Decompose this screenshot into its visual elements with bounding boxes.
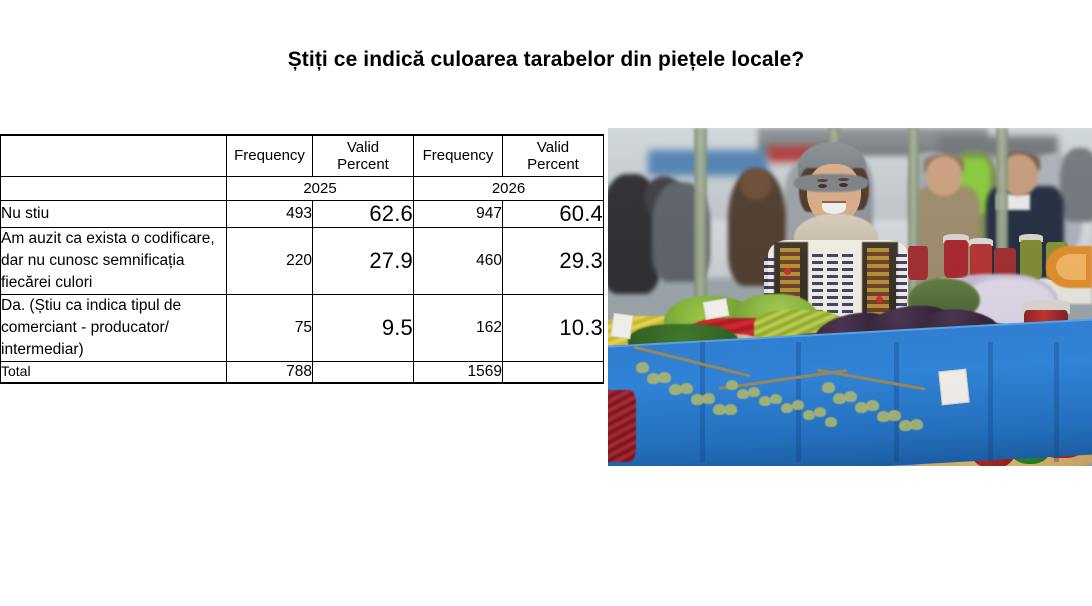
header-valid-percent-2025-line1: Valid bbox=[313, 139, 413, 156]
row-valid-percent-2026: 29.3 bbox=[503, 228, 604, 295]
photo-vendor-eyebrow bbox=[817, 179, 828, 182]
photo-vest-red-dot bbox=[784, 268, 791, 275]
row-valid-percent-2025: 62.6 bbox=[313, 201, 414, 228]
row-frequency-2025: 220 bbox=[227, 228, 313, 295]
year-group-2026: 2026 bbox=[414, 177, 604, 201]
year-group-2025: 2025 bbox=[227, 177, 414, 201]
table-row: Am auzit ca exista o codificare, dar nu … bbox=[1, 228, 604, 295]
total-frequency-2025: 788 bbox=[227, 362, 313, 383]
photo-preserve-jar bbox=[908, 246, 928, 280]
photo-crate-rib bbox=[1054, 342, 1059, 462]
photo-pickle-jar bbox=[1020, 240, 1042, 280]
photo-hop-leaf bbox=[792, 400, 804, 410]
photo-preserve-jar bbox=[944, 240, 968, 278]
row-frequency-2026: 947 bbox=[414, 201, 503, 228]
row-label-nu-stiu: Nu stiu bbox=[1, 201, 227, 228]
header-frequency-2025: Frequency bbox=[227, 135, 313, 177]
row-valid-percent-2026: 60.4 bbox=[503, 201, 604, 228]
photo-crate-rib bbox=[894, 342, 899, 462]
photo-vendor-hat-brim bbox=[794, 174, 868, 192]
photo-hop-leaf bbox=[866, 400, 879, 411]
photo-man-tan-head bbox=[926, 156, 962, 196]
page-title: Știți ce indică culoarea tarabelor din p… bbox=[0, 48, 1092, 72]
row-label-am-auzit: Am auzit ca exista o codificare, dar nu … bbox=[1, 228, 227, 295]
table-year-row: 2025 2026 bbox=[1, 177, 604, 201]
total-label: Total bbox=[1, 362, 227, 383]
photo-shopper bbox=[1060, 148, 1092, 222]
table-header-row: Frequency Valid Percent Frequency Valid … bbox=[1, 135, 604, 177]
row-label-da: Da. (Știu ca indica tipul de comerciant … bbox=[1, 295, 227, 362]
row-frequency-2025: 75 bbox=[227, 295, 313, 362]
photo-hop-leaf bbox=[636, 362, 649, 373]
photo-hop-leaf bbox=[825, 417, 837, 427]
photo-vendor-smile bbox=[822, 201, 846, 214]
header-valid-percent-2025-line2: Percent bbox=[313, 156, 413, 173]
photo-hop-leaf bbox=[724, 404, 737, 415]
photo-crate-rib bbox=[988, 342, 993, 462]
total-valid-percent-2025 bbox=[313, 362, 414, 383]
table-total-row: Total 788 1569 bbox=[1, 362, 604, 383]
photo-mesh-bag bbox=[608, 390, 636, 462]
photo-hop-leaf bbox=[888, 410, 901, 421]
photo-price-tag bbox=[938, 369, 969, 406]
table-row: Nu stiu 493 62.6 947 60.4 bbox=[1, 201, 604, 228]
photo-price-tag bbox=[610, 313, 633, 340]
photo-preserve-jar bbox=[970, 244, 992, 278]
header-valid-percent-2026-line1: Valid bbox=[503, 139, 603, 156]
photo-vendor-eyebrow bbox=[838, 178, 849, 181]
header-valid-percent-2026: Valid Percent bbox=[503, 135, 604, 177]
photo-hop-leaf bbox=[726, 380, 738, 390]
photo-tent-pole bbox=[996, 128, 1008, 258]
photo-hop-leaf bbox=[910, 419, 923, 430]
photo-hop-leaf bbox=[748, 387, 760, 397]
total-frequency-2026: 1569 bbox=[414, 362, 503, 383]
photo-hop-leaf bbox=[702, 393, 715, 404]
photo-vest-red-dot bbox=[876, 296, 883, 303]
total-valid-percent-2026 bbox=[503, 362, 604, 383]
photo-hop-leaf bbox=[822, 382, 835, 393]
photo-hop-leaf bbox=[680, 383, 693, 394]
table-row: Da. (Știu ca indica tipul de comerciant … bbox=[1, 295, 604, 362]
header-valid-percent-2026-line2: Percent bbox=[503, 156, 603, 173]
survey-table-container: Frequency Valid Percent Frequency Valid … bbox=[0, 134, 603, 384]
header-valid-percent-2025: Valid Percent bbox=[313, 135, 414, 177]
photo-tent-pole bbox=[694, 128, 707, 298]
row-valid-percent-2026: 10.3 bbox=[503, 295, 604, 362]
photo-pumpkin-flesh bbox=[1056, 254, 1086, 280]
header-frequency-2026: Frequency bbox=[414, 135, 503, 177]
header-label-cell bbox=[1, 135, 227, 177]
row-valid-percent-2025: 9.5 bbox=[313, 295, 414, 362]
survey-table: Frequency Valid Percent Frequency Valid … bbox=[0, 134, 604, 384]
photo-hop-leaf bbox=[770, 394, 782, 404]
year-row-label-cell bbox=[1, 177, 227, 201]
photo-vendor-eye bbox=[818, 184, 827, 188]
row-frequency-2026: 460 bbox=[414, 228, 503, 295]
row-frequency-2026: 162 bbox=[414, 295, 503, 362]
photo-hop-leaf bbox=[814, 407, 826, 417]
row-frequency-2025: 493 bbox=[227, 201, 313, 228]
market-photo bbox=[608, 128, 1092, 466]
photo-vendor-eye bbox=[839, 183, 848, 187]
row-valid-percent-2025: 27.9 bbox=[313, 228, 414, 295]
photo-shopper-hair-bun bbox=[740, 168, 772, 200]
photo-hop-leaf bbox=[844, 391, 857, 402]
photo-hop-leaf bbox=[658, 372, 671, 383]
